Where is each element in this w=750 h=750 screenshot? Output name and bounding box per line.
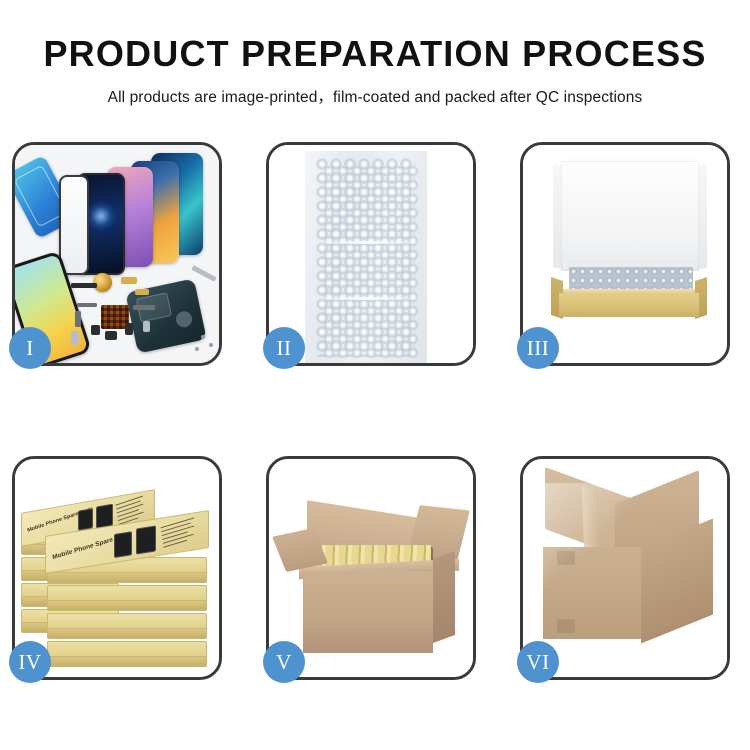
part-sim-tray-icon — [71, 331, 79, 345]
part-vibrator-icon — [143, 321, 150, 332]
product-parts-photo — [15, 145, 219, 363]
box-stack-icon: Mobile Phone Spare Parts Mobile Phone Sp… — [15, 459, 219, 677]
box-phone-thumbnail — [136, 525, 156, 554]
process-step-grid: I II III — [12, 142, 740, 680]
part-flex-cable-icon — [77, 303, 97, 307]
box-spec-lines — [161, 516, 202, 550]
part-gold-bracket-icon — [121, 277, 137, 284]
page-subtitle: All products are image-printed，film-coat… — [0, 72, 750, 107]
carton-front-wall-icon — [303, 571, 433, 653]
bubble-pattern-overlay-icon — [322, 164, 422, 360]
carton-handle-tab-icon — [557, 551, 575, 565]
part-taptic-engine-icon — [105, 331, 117, 340]
step-badge-2: II — [263, 327, 305, 369]
box-front-wall-icon — [559, 293, 699, 317]
part-earpiece-icon — [71, 283, 97, 288]
inner-box-photo — [523, 145, 727, 363]
process-step-panel-3[interactable]: III — [520, 142, 730, 366]
step-badge-5: V — [263, 641, 305, 683]
part-camera-module-icon — [91, 325, 100, 335]
carton-handle-tab-icon — [557, 619, 575, 633]
step-badge-1: I — [9, 327, 51, 369]
phone-glass-sheet-icon — [59, 175, 89, 275]
screw-icon — [201, 335, 205, 339]
screw-icon — [195, 347, 199, 351]
process-step-panel-6[interactable]: VI — [520, 456, 730, 680]
page-title: PRODUCT PREPARATION PROCESS — [0, 0, 750, 72]
wrap-seam-icon — [309, 297, 423, 300]
carton-side-wall-icon — [433, 551, 455, 643]
step-badge-3: III — [517, 327, 559, 369]
part-connector-strip-icon — [133, 305, 155, 310]
stacked-box-item — [47, 641, 207, 667]
box-lid-icon — [561, 161, 699, 271]
box-phone-thumbnail — [114, 531, 132, 558]
screw-icon — [209, 343, 213, 347]
header: PRODUCT PREPARATION PROCESS All products… — [0, 0, 750, 107]
process-step-panel-4[interactable]: Mobile Phone Spare Parts Mobile Phone Sp… — [12, 456, 222, 680]
part-gold-clip-icon — [135, 289, 149, 295]
step-badge-4: IV — [9, 641, 51, 683]
wrap-seam-icon — [309, 241, 423, 244]
stacked-boxes-photo: Mobile Phone Spare Parts Mobile Phone Sp… — [15, 459, 219, 677]
process-step-panel-1[interactable]: I — [12, 142, 222, 366]
stacked-box-item — [47, 613, 207, 639]
stacked-box-item — [47, 585, 207, 611]
carton-packing-photo — [269, 459, 473, 677]
part-battery-connector-icon — [125, 323, 133, 335]
box-phone-thumbnail — [78, 508, 93, 531]
process-step-panel-2[interactable]: II — [266, 142, 476, 366]
step-badge-6: VI — [517, 641, 559, 683]
process-step-panel-5[interactable]: V — [266, 456, 476, 680]
part-flex-strip-icon — [75, 311, 81, 327]
bubble-wrap-photo — [269, 145, 473, 363]
sealed-carton-photo — [523, 459, 727, 677]
